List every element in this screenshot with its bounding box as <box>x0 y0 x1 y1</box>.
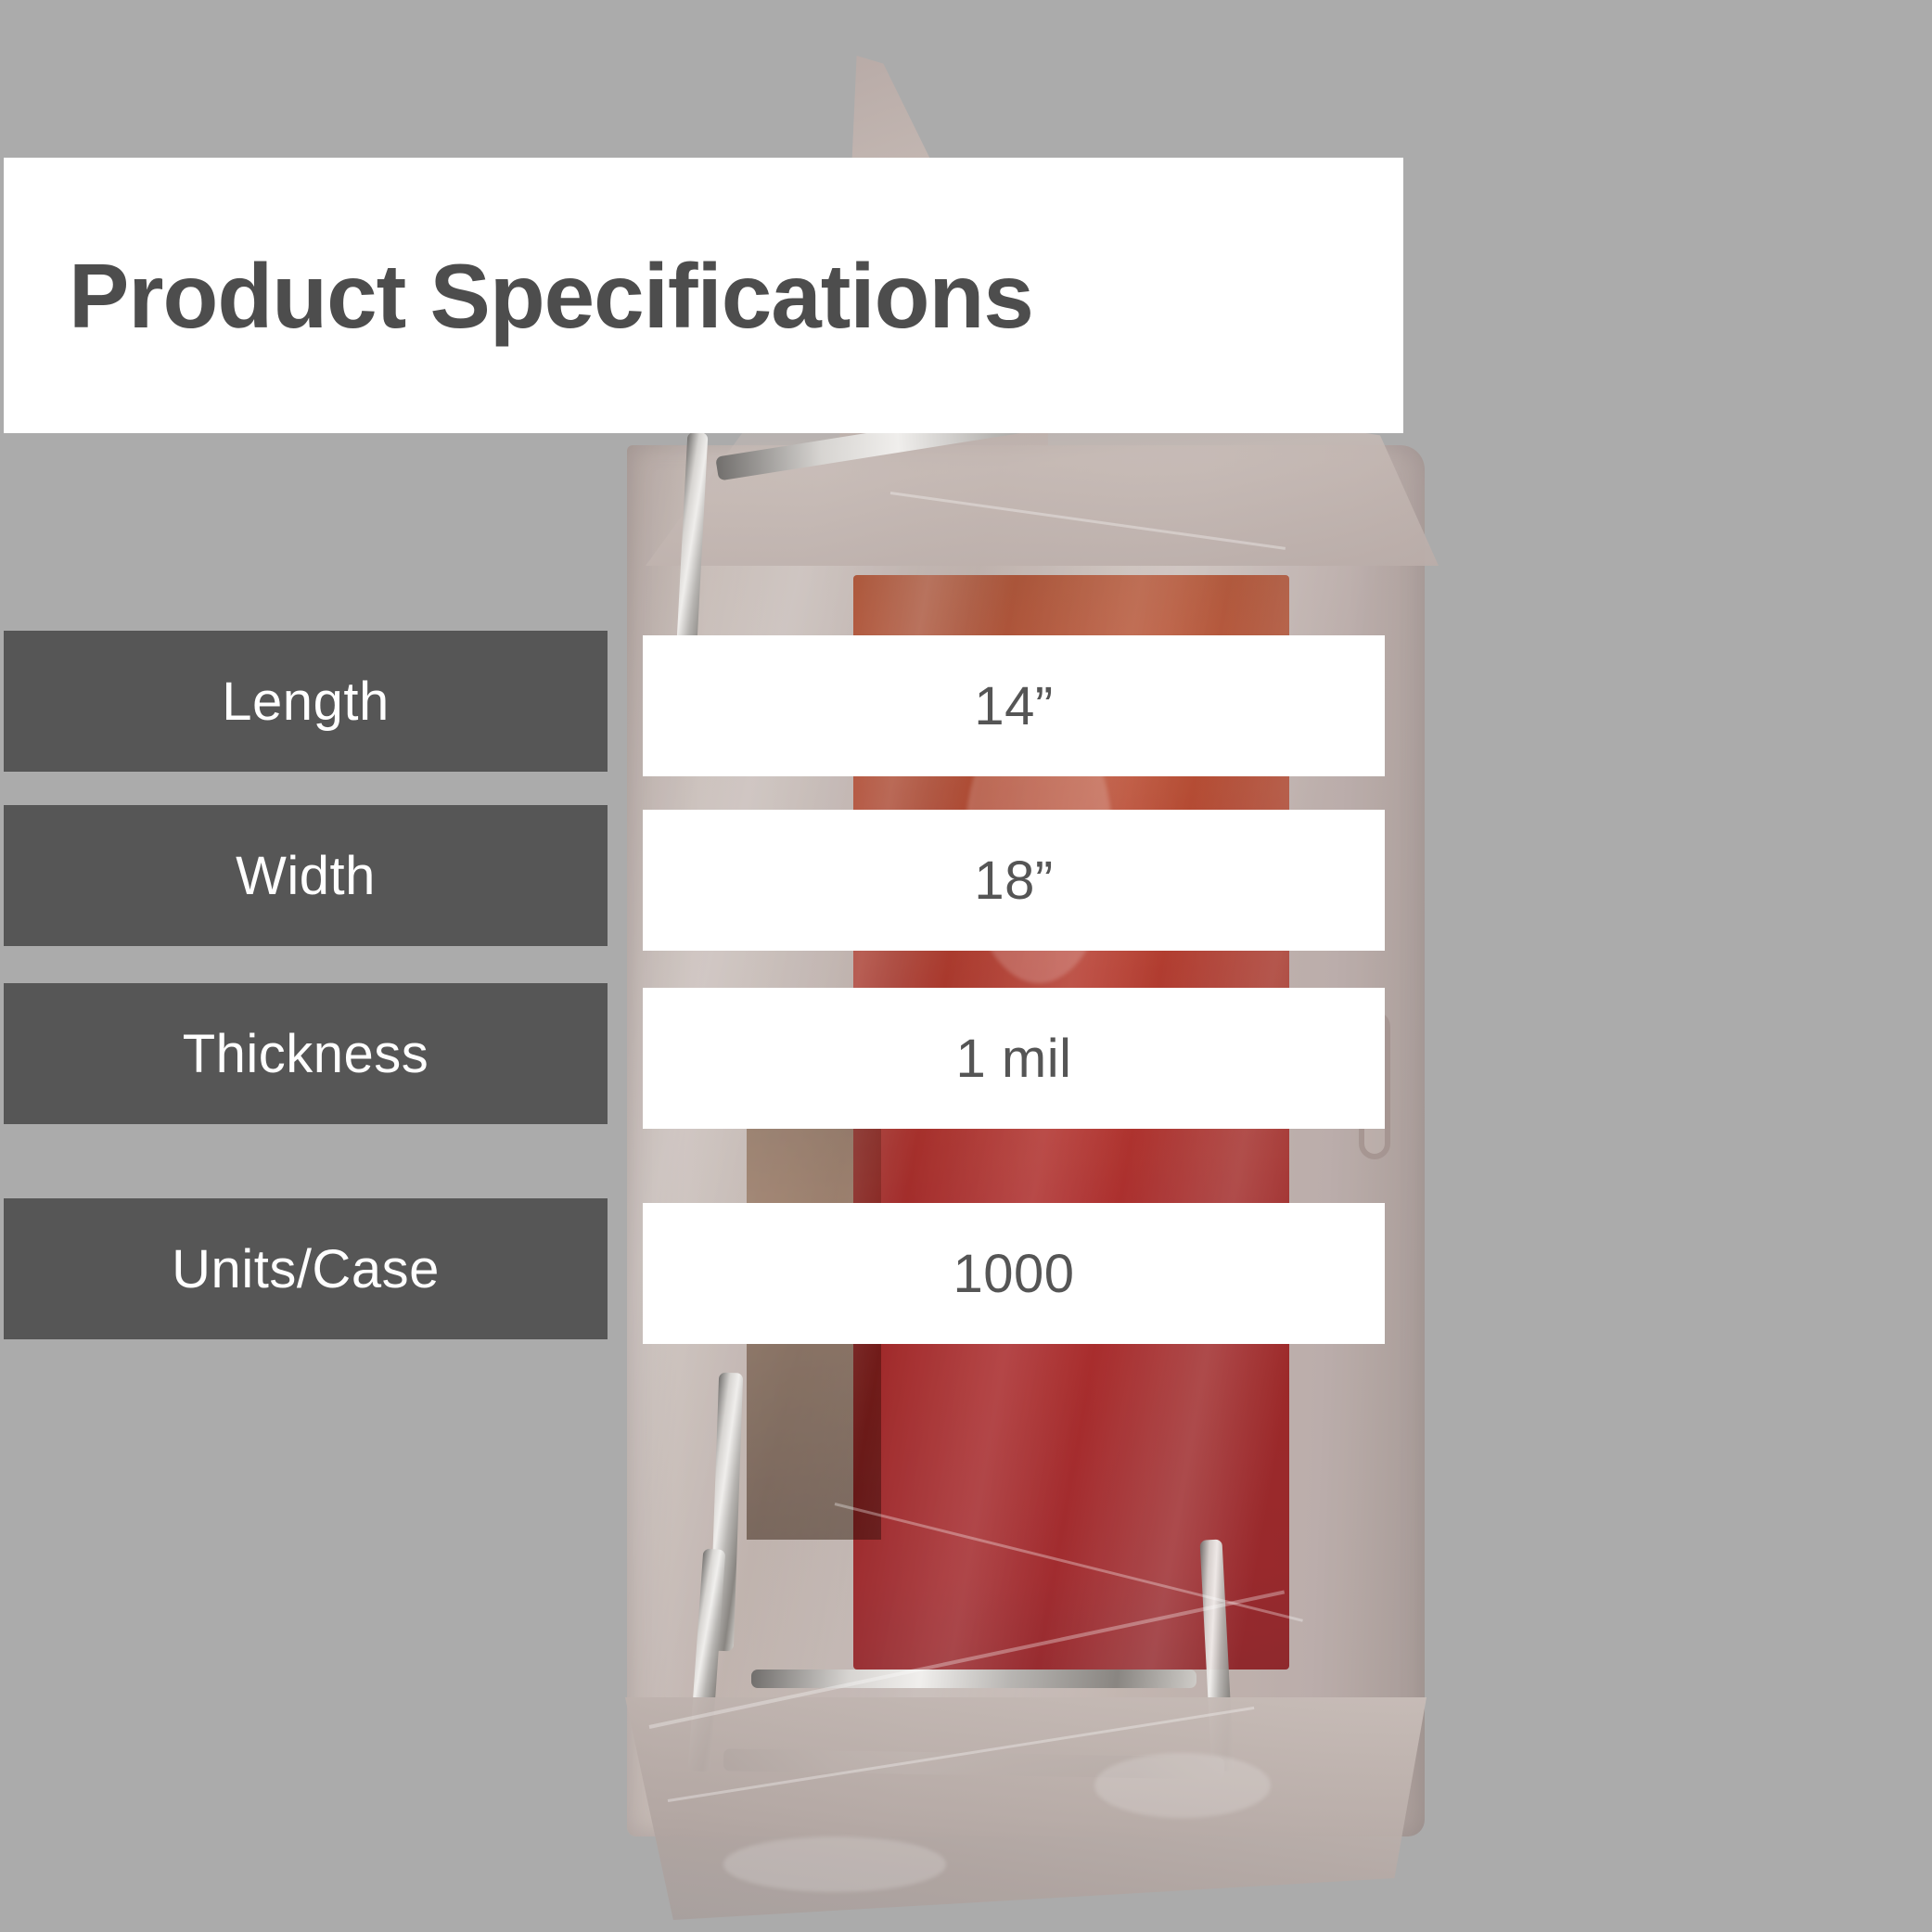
spec-value-text: 18” <box>974 850 1053 912</box>
spec-value-length: 14” <box>643 635 1385 776</box>
table-row: Length 14” <box>0 631 1932 772</box>
spec-value-width: 18” <box>643 810 1385 951</box>
spec-value-units-case: 1000 <box>643 1203 1385 1344</box>
bag-wrinkle <box>1094 1753 1271 1818</box>
spec-label-length: Length <box>4 631 608 772</box>
table-row: Units/Case 1000 <box>0 1198 1932 1339</box>
spec-label-text: Units/Case <box>172 1238 440 1300</box>
metal-frame-bar-bottom-2 <box>751 1670 1196 1688</box>
spec-label-units-case: Units/Case <box>4 1198 608 1339</box>
spec-label-thickness: Thickness <box>4 983 608 1124</box>
spec-value-thickness: 1 mil <box>643 988 1385 1129</box>
bag-bottom-fold <box>625 1697 1427 1929</box>
bag-wrinkle <box>723 1836 946 1892</box>
spec-value-text: 14” <box>974 675 1053 737</box>
spec-label-width: Width <box>4 805 608 946</box>
spec-sheet-canvas: Product Specifications Length 14” Width … <box>0 0 1932 1932</box>
spec-value-text: 1000 <box>953 1243 1074 1305</box>
title-panel: Product Specifications <box>4 158 1403 433</box>
spec-label-text: Thickness <box>183 1023 429 1085</box>
table-row: Width 18” <box>0 805 1932 946</box>
spec-label-text: Width <box>236 845 376 907</box>
table-row: Thickness 1 mil <box>0 983 1932 1124</box>
spec-label-text: Length <box>222 671 389 733</box>
page-title: Product Specifications <box>69 250 1033 341</box>
spec-value-text: 1 mil <box>956 1028 1072 1090</box>
